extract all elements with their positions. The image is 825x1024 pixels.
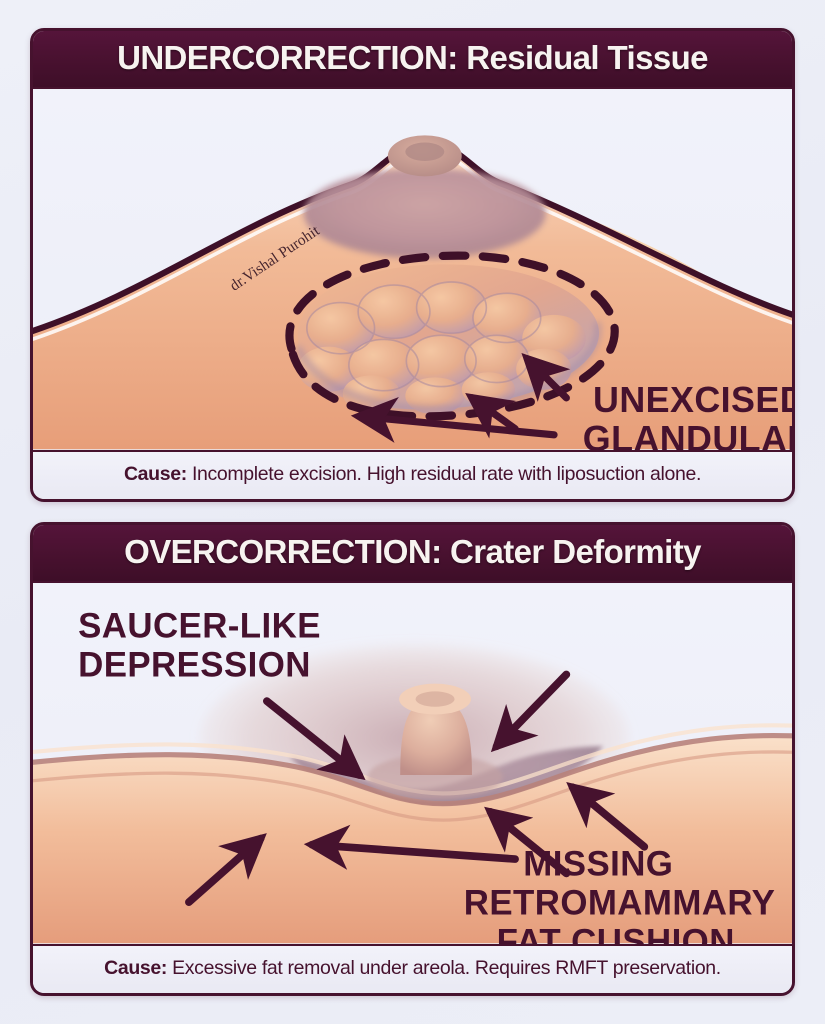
label-line-2: DEPRESSION <box>78 645 311 684</box>
panel-overcorrection: OVERCORRECTION: Crater Deformity <box>30 522 795 996</box>
saucer-like-depression-label: SAUCER-LIKE DEPRESSION <box>78 606 321 684</box>
panel-undercorrection-caption: Cause: Incomplete excision. High residua… <box>33 452 792 499</box>
caption-label: Cause: <box>124 463 187 485</box>
panel-overcorrection-header: OVERCORRECTION: Crater Deformity <box>33 525 792 581</box>
label-line-1: MISSING <box>523 844 673 883</box>
nipple-pore <box>416 691 455 706</box>
panel-overcorrection-header-bold: OVERCORRECTION: <box>124 533 441 570</box>
caption-text: Excessive fat removal under areola. Requ… <box>167 957 721 979</box>
panel-overcorrection-caption: Cause: Excessive fat removal under areol… <box>33 946 792 993</box>
panel-overcorrection-header-rest: Crater Deformity <box>441 533 700 570</box>
panel-undercorrection: UNDERCORRECTION: Residual Tissue <box>30 28 795 502</box>
panel-undercorrection-header-bold: UNDERCORRECTION: <box>117 39 458 76</box>
caption-text: Incomplete excision. High residual rate … <box>187 463 701 485</box>
overcorrection-diagram: SAUCER-LIKE DEPRESSION MISSING RETROMAMM… <box>33 583 792 944</box>
nipple-tip <box>405 142 444 160</box>
label-line-3: FAT CUSHION <box>497 922 735 944</box>
infographic-page: UNDERCORRECTION: Residual Tissue <box>0 0 825 1024</box>
label-line-2: RETROMAMMARY <box>464 883 776 922</box>
label-line-2: GLANDULAR <box>583 419 792 450</box>
label-line-1: SAUCER-LIKE <box>78 606 321 645</box>
caption-label: Cause: <box>104 957 167 979</box>
undercorrection-diagram: UNEXCISED GLANDULAR TISSUE dr.Vishal Pur… <box>33 89 792 450</box>
areola <box>304 168 546 258</box>
panel-undercorrection-illustration: UNEXCISED GLANDULAR TISSUE dr.Vishal Pur… <box>33 87 792 452</box>
panel-overcorrection-illustration: SAUCER-LIKE DEPRESSION MISSING RETROMAMM… <box>33 581 792 946</box>
unexcised-glandular-tissue-label: UNEXCISED GLANDULAR TISSUE <box>583 380 792 450</box>
panel-undercorrection-header: UNDERCORRECTION: Residual Tissue <box>33 31 792 87</box>
label-line-1: UNEXCISED <box>593 380 792 420</box>
panel-undercorrection-header-rest: Residual Tissue <box>458 39 708 76</box>
